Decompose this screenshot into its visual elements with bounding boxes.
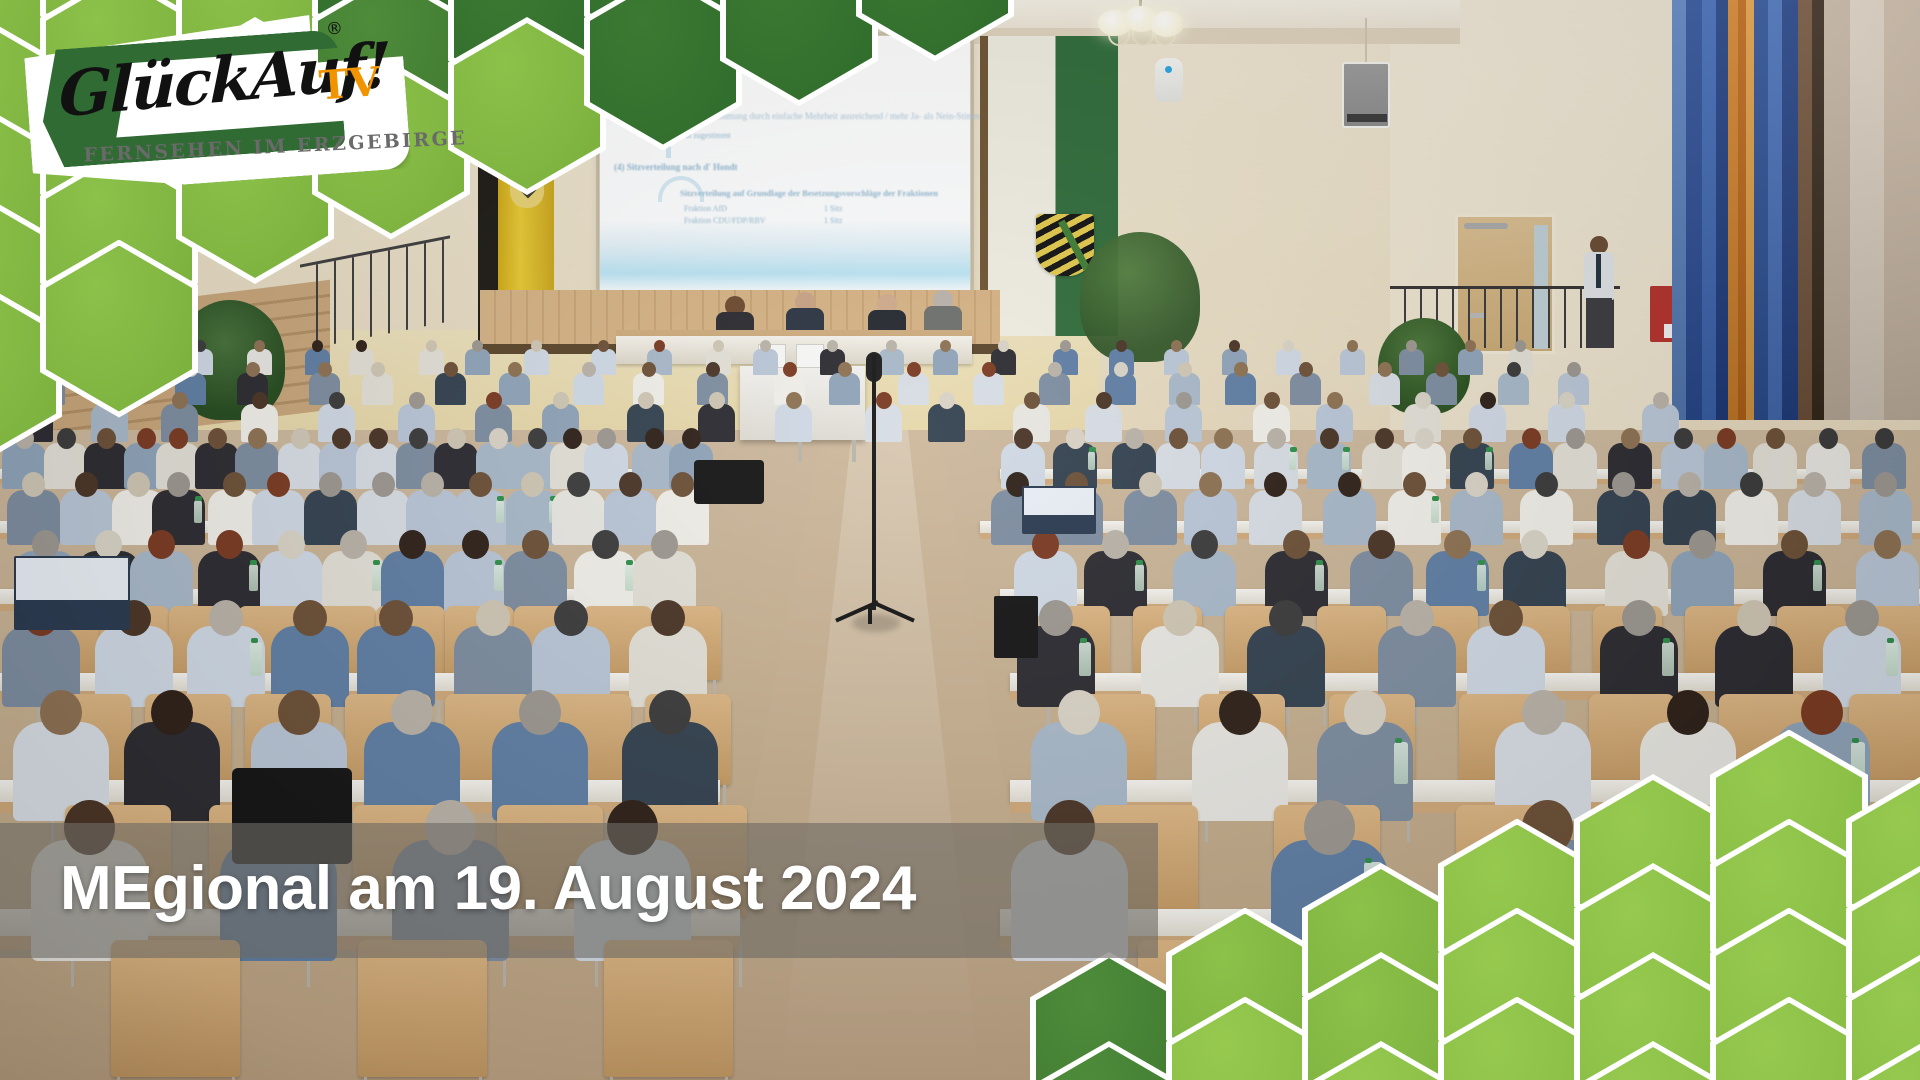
- water-bottle: [1431, 500, 1439, 523]
- person-head: [489, 428, 508, 449]
- person-head: [318, 362, 332, 377]
- sensor-led: [1165, 66, 1172, 73]
- person-head: [1521, 530, 1548, 559]
- person-body: [829, 373, 860, 405]
- person-head: [127, 472, 150, 497]
- person-head: [254, 340, 265, 352]
- projection-screen: nnennungsverfahren (Zustimmung durch ein…: [600, 36, 970, 291]
- person-head: [939, 392, 955, 409]
- bottle-cap: [373, 560, 380, 565]
- person-head: [151, 690, 193, 735]
- chair: [1317, 606, 1386, 680]
- audience-member: [1340, 340, 1365, 378]
- person-head: [1622, 600, 1656, 636]
- person-head: [248, 428, 267, 449]
- person-head: [554, 600, 588, 636]
- water-bottle: [1813, 564, 1822, 591]
- person-head: [1176, 392, 1192, 409]
- person-head: [521, 472, 544, 497]
- bottle-cap: [1395, 738, 1402, 743]
- person-head: [1169, 428, 1188, 449]
- bottle-cap: [1290, 447, 1297, 452]
- person-head: [1116, 340, 1127, 352]
- laptop-screen: [1024, 488, 1094, 515]
- person-head: [195, 340, 206, 352]
- water-bottle: [494, 564, 503, 591]
- bottle-cap: [626, 560, 633, 565]
- bottle-cap: [1887, 638, 1894, 643]
- person-head: [444, 362, 458, 377]
- person-head: [760, 340, 771, 352]
- person-head: [447, 428, 466, 449]
- person-head: [1048, 362, 1062, 377]
- person-head: [148, 530, 175, 559]
- person-head: [332, 428, 351, 449]
- screen-line-1: nnennungsverfahren (Zustimmung durch ein…: [616, 111, 992, 121]
- person-head: [356, 340, 367, 352]
- water-bottle: [1315, 564, 1324, 591]
- person-head: [476, 600, 510, 636]
- audience-member: [465, 340, 490, 378]
- person-head: [319, 472, 342, 497]
- bottle-cap: [1478, 560, 1485, 565]
- bottle-cap: [250, 560, 257, 565]
- person-head: [57, 428, 76, 449]
- audience-member: [865, 392, 902, 447]
- person-head: [1621, 428, 1640, 449]
- audience-member: [973, 362, 1004, 409]
- person-head: [209, 600, 243, 636]
- person-head: [1178, 362, 1192, 377]
- person-head: [469, 472, 492, 497]
- chair: [1751, 940, 1880, 1077]
- person-body: [465, 349, 490, 375]
- person-head: [1066, 428, 1085, 449]
- person-head: [838, 362, 852, 377]
- person-head: [1874, 530, 1901, 559]
- wall-sensor: [1155, 58, 1183, 102]
- person-head: [1320, 428, 1339, 449]
- person-head: [1102, 530, 1129, 559]
- person-body: [898, 373, 929, 405]
- person-head: [1803, 472, 1826, 497]
- audience-member: [1458, 340, 1483, 378]
- bottle-cap: [1432, 496, 1439, 501]
- person-head: [1819, 428, 1838, 449]
- person-head: [654, 340, 665, 352]
- bag: [994, 596, 1038, 658]
- person-head: [169, 428, 188, 449]
- person-head: [1283, 340, 1294, 352]
- person-head: [43, 362, 57, 377]
- person-head: [1678, 472, 1701, 497]
- person-head: [278, 530, 305, 559]
- person-head: [1522, 800, 1573, 855]
- water-bottle: [250, 642, 262, 676]
- bottle-cap: [497, 496, 504, 501]
- person-head: [1234, 362, 1248, 377]
- bottle-cap: [195, 496, 202, 501]
- door-closer: [1464, 223, 1508, 229]
- microphone-tripod-base: [832, 600, 918, 622]
- person-head: [619, 472, 642, 497]
- person-head: [1406, 340, 1417, 352]
- person-head: [1489, 600, 1523, 636]
- bottle-cap: [1136, 560, 1143, 565]
- person-head: [340, 530, 367, 559]
- person-head: [582, 362, 596, 377]
- person-head: [651, 600, 685, 636]
- person-head: [426, 340, 437, 352]
- audience-member: [1225, 362, 1256, 409]
- person-head: [1344, 690, 1386, 735]
- person-head: [421, 472, 444, 497]
- video-frame: nnennungsverfahren (Zustimmung durch ein…: [0, 0, 1920, 1080]
- person-head: [1845, 600, 1879, 636]
- bottle-cap: [1316, 560, 1323, 565]
- person-head: [1737, 600, 1771, 636]
- person-head: [76, 340, 87, 352]
- water-bottle: [1394, 742, 1408, 784]
- audience-member: [928, 392, 965, 447]
- person-head: [638, 392, 654, 409]
- person-head: [1781, 530, 1808, 559]
- chair: [111, 940, 240, 1077]
- microphone-stand: [872, 355, 876, 610]
- person-head: [1299, 362, 1313, 377]
- bottle-cap: [495, 560, 502, 565]
- person-body: [362, 373, 393, 405]
- water-bottle: [1342, 451, 1349, 470]
- audience-member: [829, 362, 860, 409]
- person-head: [40, 690, 82, 735]
- person-head: [783, 362, 797, 377]
- person-head: [293, 600, 327, 636]
- crest-diamond: [520, 182, 537, 199]
- person-head: [1039, 600, 1073, 636]
- person-head: [592, 530, 619, 559]
- person-head: [1378, 362, 1392, 377]
- screen-line-2: wenn zugestimmt: [674, 131, 731, 140]
- screen-line-5: Fraktion AfD1 Sitz: [684, 204, 727, 213]
- person-head: [671, 472, 694, 497]
- person-head: [553, 392, 569, 409]
- person-head: [1875, 428, 1894, 449]
- person-head: [312, 340, 323, 352]
- person-head: [1559, 392, 1575, 409]
- water-bottle: [1477, 564, 1486, 591]
- person-head: [651, 530, 678, 559]
- water-bottle: [1135, 564, 1144, 591]
- person-head: [95, 530, 122, 559]
- person-head: [167, 472, 190, 497]
- person-head: [1125, 428, 1144, 449]
- person-head: [886, 340, 897, 352]
- person-head: [139, 340, 150, 352]
- bottle-cap: [1663, 638, 1670, 643]
- person-head: [1740, 472, 1763, 497]
- person-head: [252, 392, 268, 409]
- person-head: [379, 600, 413, 636]
- audience-member: [362, 362, 393, 409]
- chandelier: [1096, 0, 1186, 52]
- saxony-coat-of-arms-icon: [1036, 214, 1094, 276]
- chair: [358, 940, 487, 1077]
- audience-member: [775, 392, 812, 447]
- person-body: [1225, 373, 1256, 405]
- person-head: [1199, 472, 1222, 497]
- person-head: [372, 472, 395, 497]
- bottle-cap: [1343, 447, 1350, 452]
- person-body: [1458, 349, 1483, 375]
- person-head: [1264, 472, 1287, 497]
- person-head: [472, 340, 483, 352]
- person-head: [1191, 530, 1218, 559]
- audience-member: [132, 340, 157, 378]
- person-head: [1403, 472, 1426, 497]
- water-bottle: [1662, 642, 1674, 676]
- person-head: [1024, 392, 1040, 409]
- person-body: [435, 373, 466, 405]
- person-head: [1623, 530, 1650, 559]
- person-head: [1612, 472, 1635, 497]
- person-head: [522, 530, 549, 559]
- person-head: [1058, 690, 1100, 735]
- person-head: [786, 392, 802, 409]
- person-head: [998, 340, 1009, 352]
- person-head: [291, 428, 310, 449]
- bottle-cap: [1080, 638, 1087, 643]
- person-head: [706, 362, 720, 377]
- person-head: [1465, 472, 1488, 497]
- wall-crest: [510, 162, 544, 208]
- wall-loudspeaker: [1342, 62, 1390, 128]
- person-head: [642, 362, 656, 377]
- water-bottle: [249, 564, 258, 591]
- person-head: [1463, 428, 1482, 449]
- standing-person: [1582, 236, 1616, 348]
- person-head: [1435, 362, 1449, 377]
- person-head: [682, 428, 701, 449]
- person-head: [1567, 362, 1581, 377]
- water-bottle: [1485, 451, 1492, 470]
- speaker-cable: [1365, 18, 1367, 64]
- person-head: [462, 530, 489, 559]
- person-head: [1667, 690, 1709, 735]
- person-head: [709, 392, 725, 409]
- person-head: [1267, 428, 1286, 449]
- audience-member: [1399, 340, 1424, 378]
- person-head: [1689, 530, 1716, 559]
- chandelier-bulb: [1150, 11, 1184, 37]
- person-head: [97, 428, 116, 449]
- person-head: [137, 428, 156, 449]
- person-head: [1368, 530, 1395, 559]
- person-head: [531, 340, 542, 352]
- chandelier-arm: [1132, 30, 1154, 46]
- person-head: [1674, 428, 1693, 449]
- person-body: [928, 404, 965, 442]
- person-head: [27, 392, 43, 409]
- person-head: [713, 340, 724, 352]
- water-bottle: [496, 500, 504, 523]
- person-head: [1114, 362, 1128, 377]
- chair: [604, 940, 733, 1077]
- person-head: [278, 690, 320, 735]
- person-head: [1535, 472, 1558, 497]
- person-head: [22, 472, 45, 497]
- chair: [1445, 940, 1574, 1077]
- laptop: [1022, 486, 1096, 534]
- person-head: [391, 690, 433, 735]
- person-head: [1717, 428, 1736, 449]
- person-head: [1229, 340, 1240, 352]
- person-head: [1766, 428, 1785, 449]
- person-head: [369, 428, 388, 449]
- person-head: [371, 362, 385, 377]
- laptop-screen: [16, 558, 128, 600]
- person-head: [827, 340, 838, 352]
- bottle-cap: [1814, 560, 1821, 565]
- person-head: [1264, 392, 1280, 409]
- person-head: [1269, 600, 1303, 636]
- person-head: [208, 428, 227, 449]
- person-head: [1400, 600, 1434, 636]
- person-head: [1522, 690, 1564, 735]
- channel-logo: GlückAuf! ® TV FERNSEHEN IM ERZGEBIRGE: [23, 8, 412, 195]
- person-head: [172, 392, 188, 409]
- person-head: [1522, 428, 1541, 449]
- person-head: [1139, 472, 1162, 497]
- person-head: [1283, 530, 1310, 559]
- screen-line-4: Sitzverteilung auf Grundlage der Besetzu…: [680, 188, 938, 198]
- audience-member: [69, 340, 94, 378]
- person-body: [1340, 349, 1365, 375]
- screen-arrow: [666, 136, 671, 158]
- person-head: [1060, 340, 1071, 352]
- person-head: [563, 428, 582, 449]
- person-head: [409, 428, 428, 449]
- person-head: [1338, 472, 1361, 497]
- person-head: [1415, 428, 1434, 449]
- person-head: [1304, 800, 1355, 855]
- person-head: [1515, 340, 1526, 352]
- person-head: [649, 690, 691, 735]
- chair: [1138, 940, 1267, 1077]
- person-head: [1507, 362, 1521, 377]
- person-head: [1375, 428, 1394, 449]
- person-body: [865, 404, 902, 442]
- person-head: [519, 690, 561, 735]
- person-body: [1399, 349, 1424, 375]
- laptop: [14, 556, 130, 630]
- person-head: [1171, 340, 1182, 352]
- audience-member: [1369, 362, 1400, 409]
- person-body: [775, 404, 812, 442]
- water-bottle: [1364, 862, 1382, 913]
- person-head: [508, 362, 522, 377]
- person-head: [1566, 428, 1585, 449]
- bottle-cap: [1089, 447, 1096, 452]
- person-head: [597, 428, 616, 449]
- person-head: [940, 340, 951, 352]
- person-head: [267, 472, 290, 497]
- person-head: [246, 362, 260, 377]
- person-head: [184, 362, 198, 377]
- page-title: MEgional am 19. August 2024: [60, 853, 1150, 924]
- person-head: [907, 362, 921, 377]
- bottle-cap: [1365, 858, 1372, 863]
- audience-member: [898, 362, 929, 409]
- screen-line-6: Fraktion CDU/FDP/RBV1 Sitz: [684, 216, 766, 225]
- person-head: [329, 392, 345, 409]
- person-body: [933, 349, 958, 375]
- person-head: [1874, 472, 1897, 497]
- person-head: [486, 392, 502, 409]
- registered-trademark-icon: ®: [325, 19, 343, 40]
- person-body: [132, 349, 157, 375]
- person-head: [1465, 340, 1476, 352]
- person-head: [1219, 690, 1261, 735]
- person-head: [32, 530, 59, 559]
- person-head: [876, 392, 892, 409]
- crest-waves: [510, 168, 544, 180]
- person-head: [1444, 530, 1471, 559]
- person-head: [1214, 428, 1233, 449]
- water-bottle: [372, 564, 381, 591]
- person-head: [399, 530, 426, 559]
- person-head: [982, 362, 996, 377]
- person-head: [102, 392, 118, 409]
- person-head: [15, 428, 34, 449]
- person-head: [1347, 340, 1358, 352]
- person-tie: [1596, 254, 1601, 288]
- person-head: [1327, 392, 1343, 409]
- person-head: [1415, 392, 1431, 409]
- bottle-cap: [1852, 738, 1859, 743]
- person-body: [69, 349, 94, 375]
- person-head: [223, 472, 246, 497]
- water-bottle: [1289, 451, 1296, 470]
- person-head: [1163, 600, 1197, 636]
- person-head: [1653, 392, 1669, 409]
- water-bottle: [1079, 642, 1091, 676]
- person-body: [973, 373, 1004, 405]
- person-head: [645, 428, 664, 449]
- person-head: [409, 392, 425, 409]
- person-head: [528, 428, 547, 449]
- audience-member: [435, 362, 466, 409]
- person-head: [1480, 392, 1496, 409]
- audience-member: [933, 340, 958, 378]
- person-head: [567, 472, 590, 497]
- bottle-cap: [251, 638, 258, 643]
- person-head: [1096, 392, 1112, 409]
- window-curtain-shading: [1672, 0, 1920, 420]
- water-bottle: [194, 500, 202, 523]
- logo-tv-suffix: TV: [317, 58, 381, 109]
- person-head: [598, 340, 609, 352]
- person-head: [1801, 690, 1843, 735]
- person-head: [216, 530, 243, 559]
- person-head: [1032, 530, 1059, 559]
- bottle-cap: [1486, 447, 1493, 452]
- tripod-leg: [835, 600, 879, 622]
- water-bottle: [1088, 451, 1095, 470]
- bag: [694, 460, 764, 504]
- screen-line-3: (4) Sitzverteilung nach d' Hondt: [614, 162, 738, 172]
- water-bottle: [1886, 642, 1898, 676]
